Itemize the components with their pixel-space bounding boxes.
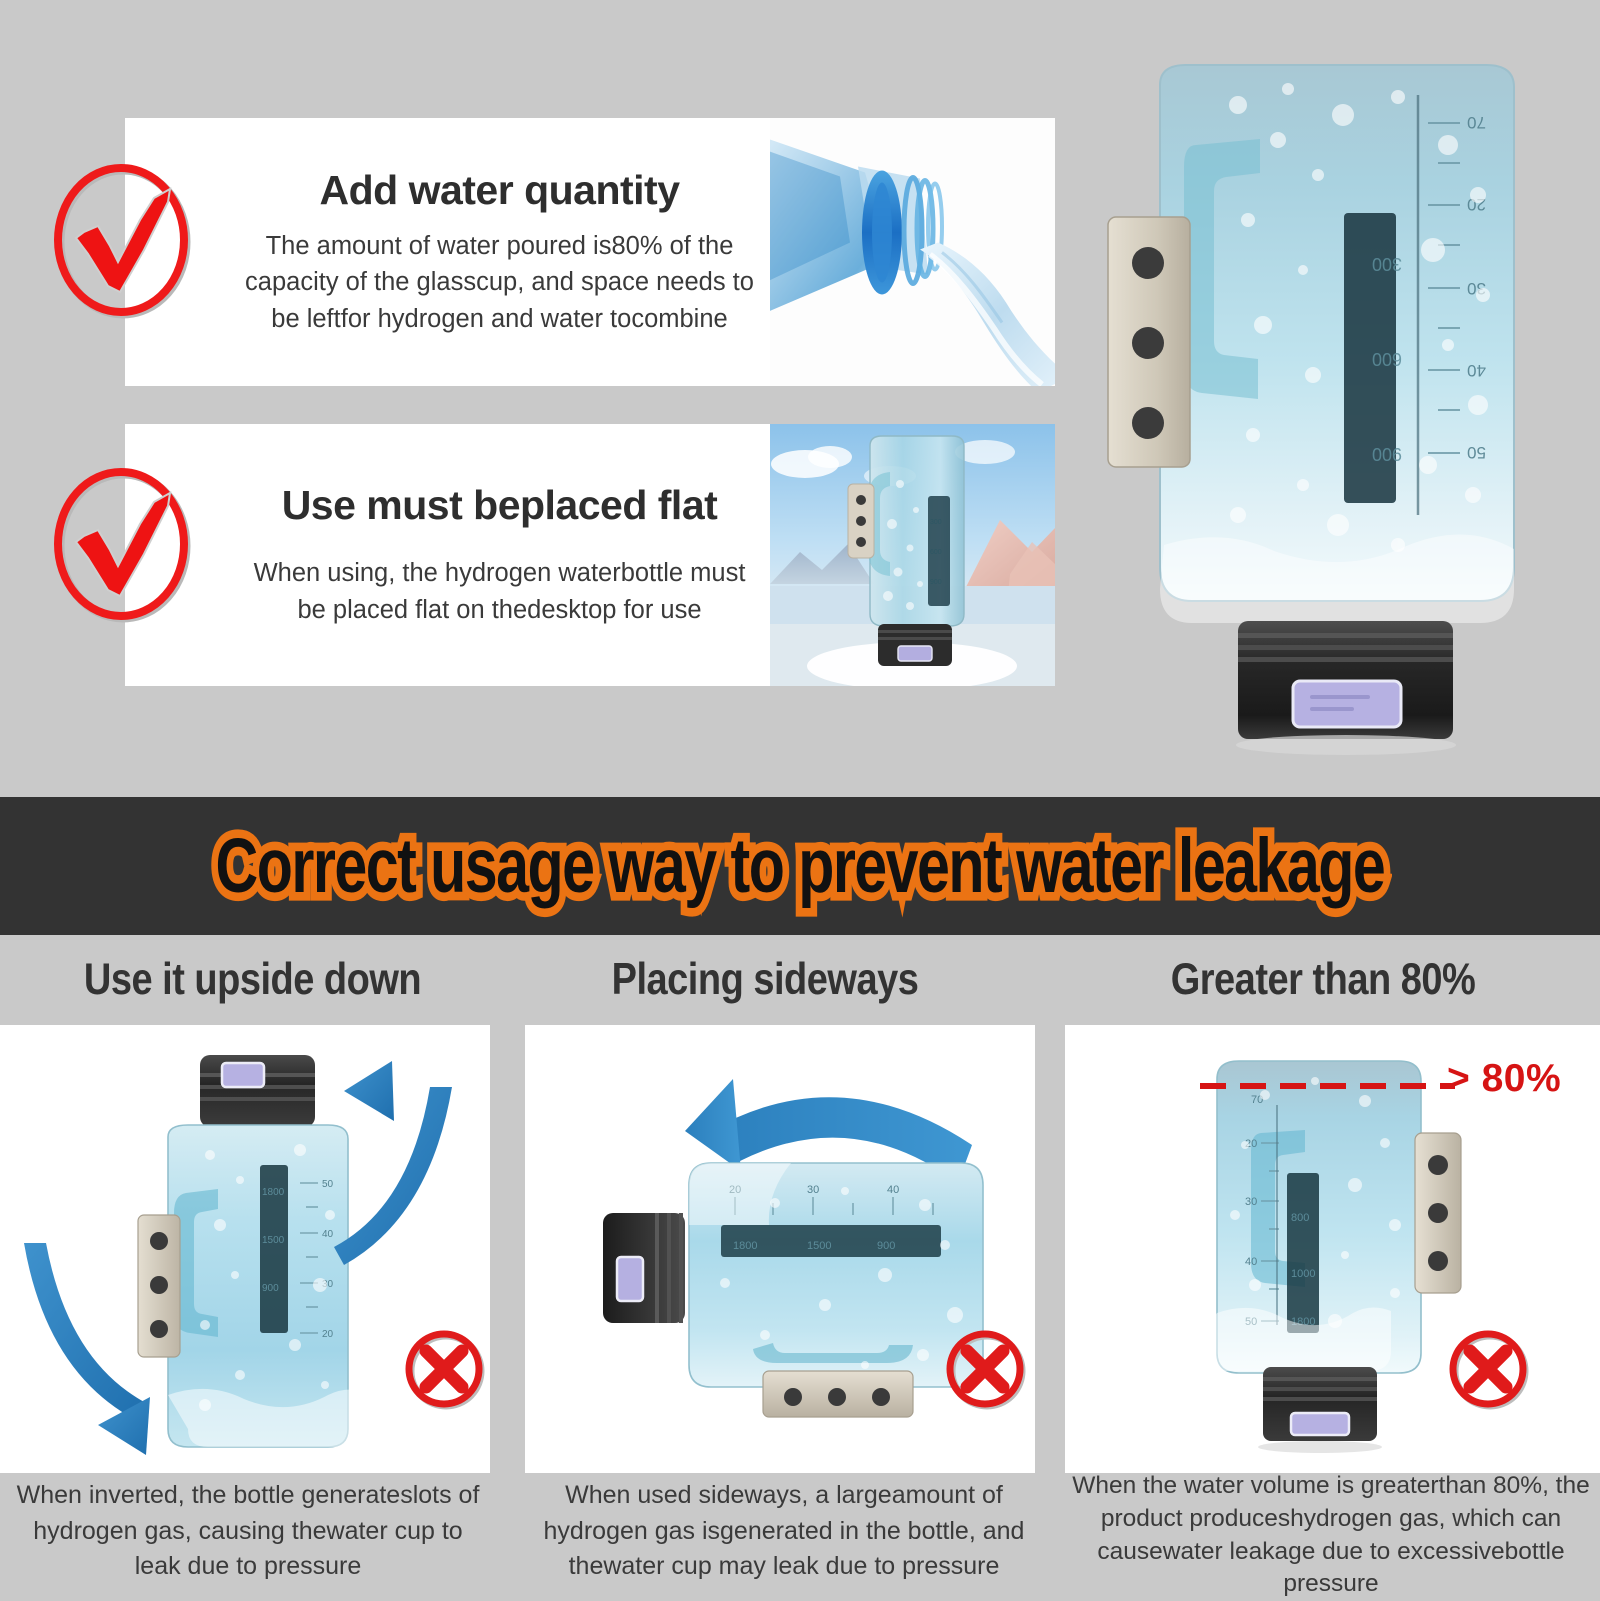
svg-text:1800: 1800 (262, 1187, 285, 1198)
bottle-scenic-photo: 300600900 (770, 424, 1055, 686)
heading-use-upside-down: Use it upside down (20, 927, 485, 1033)
svg-text:900: 900 (930, 579, 942, 586)
card-photo: 300600900 (770, 424, 1055, 686)
eighty-percent-dashed-line (1200, 1083, 1455, 1089)
svg-text:40: 40 (1467, 361, 1486, 380)
svg-text:900: 900 (262, 1283, 279, 1294)
card-photo (770, 118, 1055, 386)
caption-greater-than-80: When the water volume is greaterthan 80%… (1062, 1470, 1600, 1588)
top-section: Add water quantity The amount of water p… (0, 0, 1600, 797)
caption-placing-sideways: When used sideways, a largeamount of hyd… (528, 1478, 1040, 1596)
check-circle-icon (48, 158, 198, 326)
eighty-percent-annotation: > 80% (1447, 1057, 1561, 1101)
svg-text:1000: 1000 (1291, 1268, 1315, 1280)
x-circle-icon (1448, 1329, 1530, 1411)
svg-text:600: 600 (1372, 349, 1402, 369)
card-title: Add water quantity (319, 167, 679, 214)
info-card-place-flat: Use must beplaced flat When using, the h… (125, 424, 1055, 686)
svg-text:40: 40 (887, 1184, 899, 1196)
svg-text:40: 40 (322, 1229, 334, 1240)
info-card-add-water: Add water quantity The amount of water p… (125, 118, 1055, 386)
svg-text:50: 50 (1467, 443, 1486, 462)
svg-text:50: 50 (322, 1179, 334, 1190)
banner-title: Correct usage way to prevent water leaka… (216, 822, 1385, 910)
check-circle-icon (48, 462, 198, 630)
svg-text:30: 30 (1245, 1196, 1257, 1208)
svg-text:900: 900 (877, 1240, 895, 1252)
wrong-usage-headings: Use it upside down Placing sideways Grea… (0, 935, 1600, 1025)
svg-text:70: 70 (1467, 113, 1486, 132)
info-card-text: Use must beplaced flat When using, the h… (125, 424, 770, 686)
svg-text:300: 300 (930, 519, 942, 526)
hero-product-image: 300 600 900 70 20 30 (1088, 45, 1588, 785)
x-circle-icon (404, 1329, 486, 1411)
svg-text:600: 600 (930, 549, 942, 556)
svg-text:1800: 1800 (733, 1240, 757, 1252)
svg-text:20: 20 (322, 1329, 334, 1340)
card-body: The amount of water poured is80% of the … (245, 228, 754, 337)
heading-greater-than-80: Greater than 80% (1078, 927, 1568, 1033)
svg-text:800: 800 (1291, 1212, 1309, 1224)
card-title: Use must beplaced flat (282, 482, 718, 529)
infographic-root: Add water quantity The amount of water p… (0, 0, 1600, 1600)
heading-placing-sideways: Placing sideways (530, 927, 1000, 1033)
card-body: When using, the hydrogen waterbottle mus… (245, 555, 754, 627)
svg-text:900: 900 (1372, 444, 1402, 464)
svg-text:30: 30 (807, 1184, 819, 1196)
svg-text:1500: 1500 (807, 1240, 831, 1252)
section-banner: Correct usage way to prevent water leaka… (0, 797, 1600, 935)
water-pouring-photo (770, 118, 1055, 386)
x-circle-icon (945, 1329, 1027, 1411)
svg-text:300: 300 (1372, 254, 1402, 274)
svg-text:40: 40 (1245, 1256, 1257, 1268)
caption-use-upside-down: When inverted, the bottle generateslots … (8, 1478, 488, 1596)
svg-text:1500: 1500 (262, 1235, 285, 1246)
info-card-text: Add water quantity The amount of water p… (125, 118, 770, 386)
